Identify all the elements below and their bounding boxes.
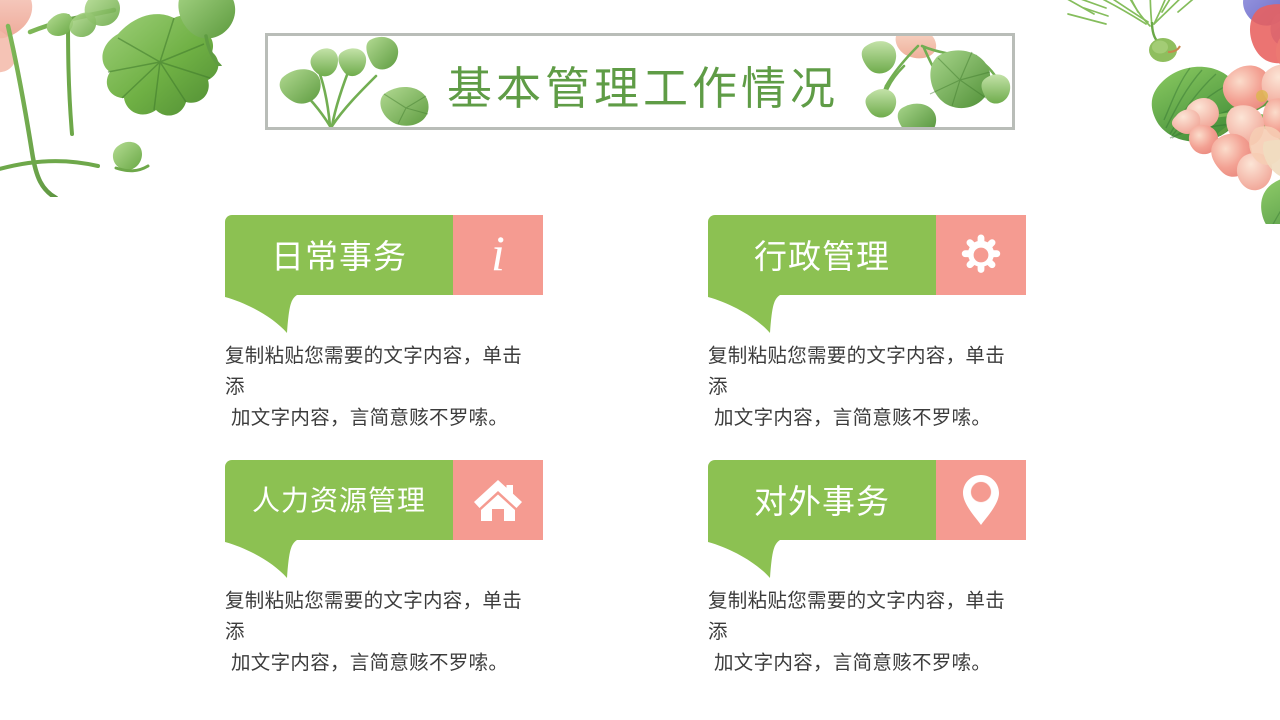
- slide-root: 基本管理工作情况 日常事务 i 复制粘贴您需要的文字内容，单击添 加文字内容，言…: [0, 0, 1280, 720]
- title-frame: 基本管理工作情况: [265, 33, 1015, 130]
- card-description-line2: 加文字内容，言简意赅不罗嗦。: [708, 648, 1010, 679]
- card-title: 对外事务: [708, 460, 936, 540]
- info-icon: i: [453, 215, 543, 295]
- location-pin-icon: [936, 460, 1026, 540]
- ivy-leaves-top-left-decoration: [0, 0, 240, 197]
- card-title: 日常事务: [225, 215, 453, 295]
- speech-bubble-tail: [708, 540, 788, 578]
- info-icon-glyph: i: [491, 228, 505, 278]
- card-description: 复制粘贴您需要的文字内容，单击添 加文字内容，言简意赅不罗嗦。: [708, 341, 1010, 434]
- card-description-line2: 加文字内容，言简意赅不罗嗦。: [225, 648, 527, 679]
- speech-bubble-tail: [708, 295, 788, 333]
- gear-icon: [936, 215, 1026, 295]
- card-header[interactable]: 行政管理: [708, 215, 1026, 295]
- ivy-leaf-upper-decoration: [170, 0, 260, 66]
- card-administrative-management[interactable]: 行政管理 复制粘贴您需要的文字内容，单击添 加文字内容，言简意赅不罗嗦。: [708, 215, 1026, 434]
- card-description-line2: 加文字内容，言简意赅不罗嗦。: [225, 403, 527, 434]
- card-external-affairs[interactable]: 对外事务 复制粘贴您需要的文字内容，单击添 加文字内容，言简意赅不罗嗦。: [708, 460, 1026, 679]
- card-human-resources-management[interactable]: 人力资源管理 复制粘贴您需要的文字内容，单击添 加文字内容，言简意赅不罗嗦。: [225, 460, 543, 679]
- card-header[interactable]: 对外事务: [708, 460, 1026, 540]
- speech-bubble-tail: [225, 540, 305, 578]
- card-description-line1: 复制粘贴您需要的文字内容，单击添: [708, 345, 1005, 398]
- floral-top-right-decoration: [1020, 0, 1280, 224]
- card-description-line1: 复制粘贴您需要的文字内容，单击添: [708, 590, 1005, 643]
- card-description: 复制粘贴您需要的文字内容，单击添 加文字内容，言简意赅不罗嗦。: [225, 586, 527, 679]
- card-description-line1: 复制粘贴您需要的文字内容，单击添: [225, 345, 522, 398]
- card-header[interactable]: 日常事务 i: [225, 215, 543, 295]
- page-title: 基本管理工作情况: [268, 36, 1015, 130]
- card-description-line1: 复制粘贴您需要的文字内容，单击添: [225, 590, 522, 643]
- location-pin-icon-glyph: [962, 474, 1000, 526]
- card-title: 行政管理: [708, 215, 936, 295]
- card-daily-affairs[interactable]: 日常事务 i 复制粘贴您需要的文字内容，单击添 加文字内容，言简意赅不罗嗦。: [225, 215, 543, 434]
- speech-bubble-tail: [225, 295, 305, 333]
- card-description: 复制粘贴您需要的文字内容，单击添 加文字内容，言简意赅不罗嗦。: [708, 586, 1010, 679]
- card-header[interactable]: 人力资源管理: [225, 460, 543, 540]
- home-icon-glyph: [473, 477, 523, 523]
- card-description-line2: 加文字内容，言简意赅不罗嗦。: [708, 403, 1010, 434]
- card-title: 人力资源管理: [225, 460, 453, 540]
- home-icon: [453, 460, 543, 540]
- gear-icon-glyph: [958, 232, 1004, 278]
- card-description: 复制粘贴您需要的文字内容，单击添 加文字内容，言简意赅不罗嗦。: [225, 341, 527, 434]
